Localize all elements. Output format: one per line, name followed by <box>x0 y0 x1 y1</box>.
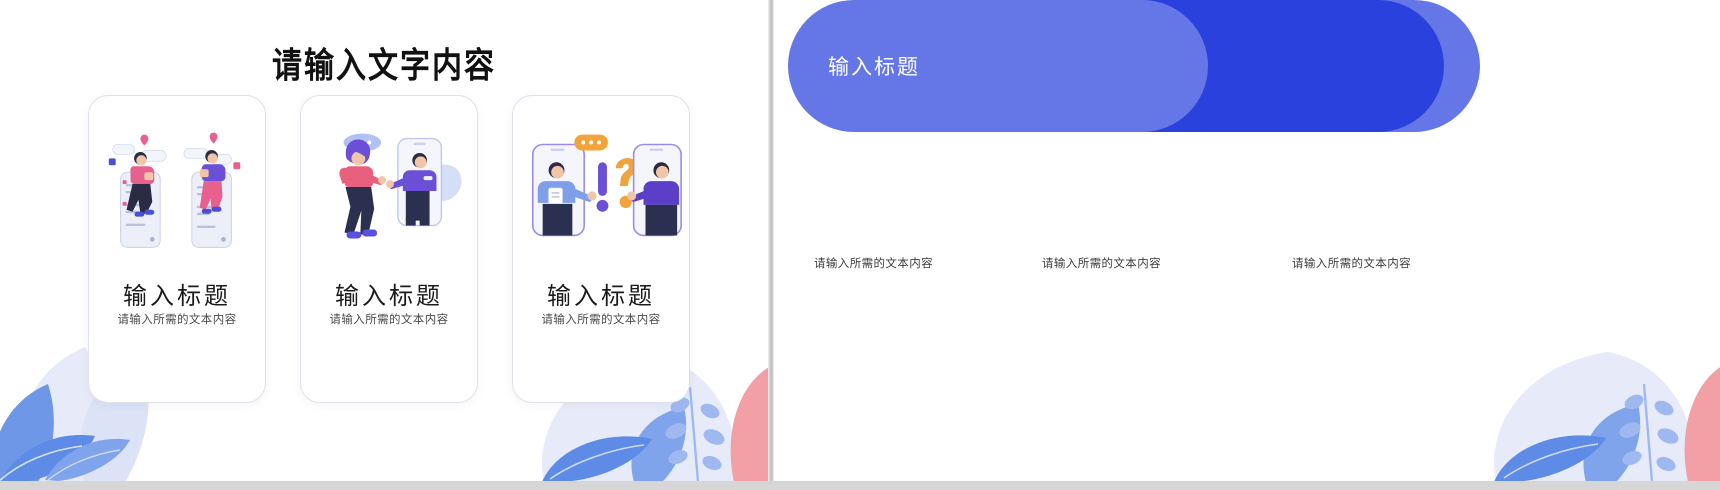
pill-button-1[interactable]: 输入标题 <box>788 0 1208 132</box>
feature-card-1-caption: 请输入所需的文本内容 <box>89 311 265 327</box>
woman-and-man-in-phone-icon <box>301 114 477 264</box>
feature-card-3[interactable]: 输入标题 请输入所需的文本内容 <box>512 95 690 403</box>
slide-left[interactable]: 请输入文字内容 <box>0 0 768 490</box>
slide-divider <box>768 0 774 490</box>
pill-caption-2: 请输入所需的文本内容 <box>1042 255 1161 271</box>
page-title: 请输入文字内容 <box>0 36 768 88</box>
feature-card-list: 输入标题 请输入所需的文本内容 <box>0 95 768 405</box>
feature-card-1-title: 输入标题 <box>89 276 265 311</box>
feature-card-3-caption: 请输入所需的文本内容 <box>513 311 689 327</box>
feature-card-3-title: 输入标题 <box>513 276 689 311</box>
bottom-edge-bar <box>0 481 1720 490</box>
feature-card-2-title: 输入标题 <box>301 276 477 311</box>
slide-right[interactable]: 输入标题 输入标题 输入标题 请输入所需的文本内容 请输入所需的文本内容 请输入… <box>774 0 1720 490</box>
pill-button-1-label: 输入标题 <box>828 51 920 81</box>
two-phones-question-exclamation-icon <box>513 114 689 264</box>
pill-caption-3: 请输入所需的文本内容 <box>1292 255 1411 271</box>
feature-card-2-caption: 请输入所需的文本内容 <box>301 311 477 327</box>
pill-caption-1: 请输入所需的文本内容 <box>814 255 933 271</box>
feature-card-1[interactable]: 输入标题 请输入所需的文本内容 <box>88 95 266 403</box>
two-people-on-phones-icon <box>89 114 265 264</box>
feature-card-2[interactable]: 输入标题 请输入所需的文本内容 <box>300 95 478 403</box>
slide-deck-canvas: 请输入文字内容 <box>0 0 1720 490</box>
pill-bar-group: 输入标题 输入标题 输入标题 请输入所需的文本内容 请输入所需的文本内容 请输入… <box>774 0 1720 490</box>
